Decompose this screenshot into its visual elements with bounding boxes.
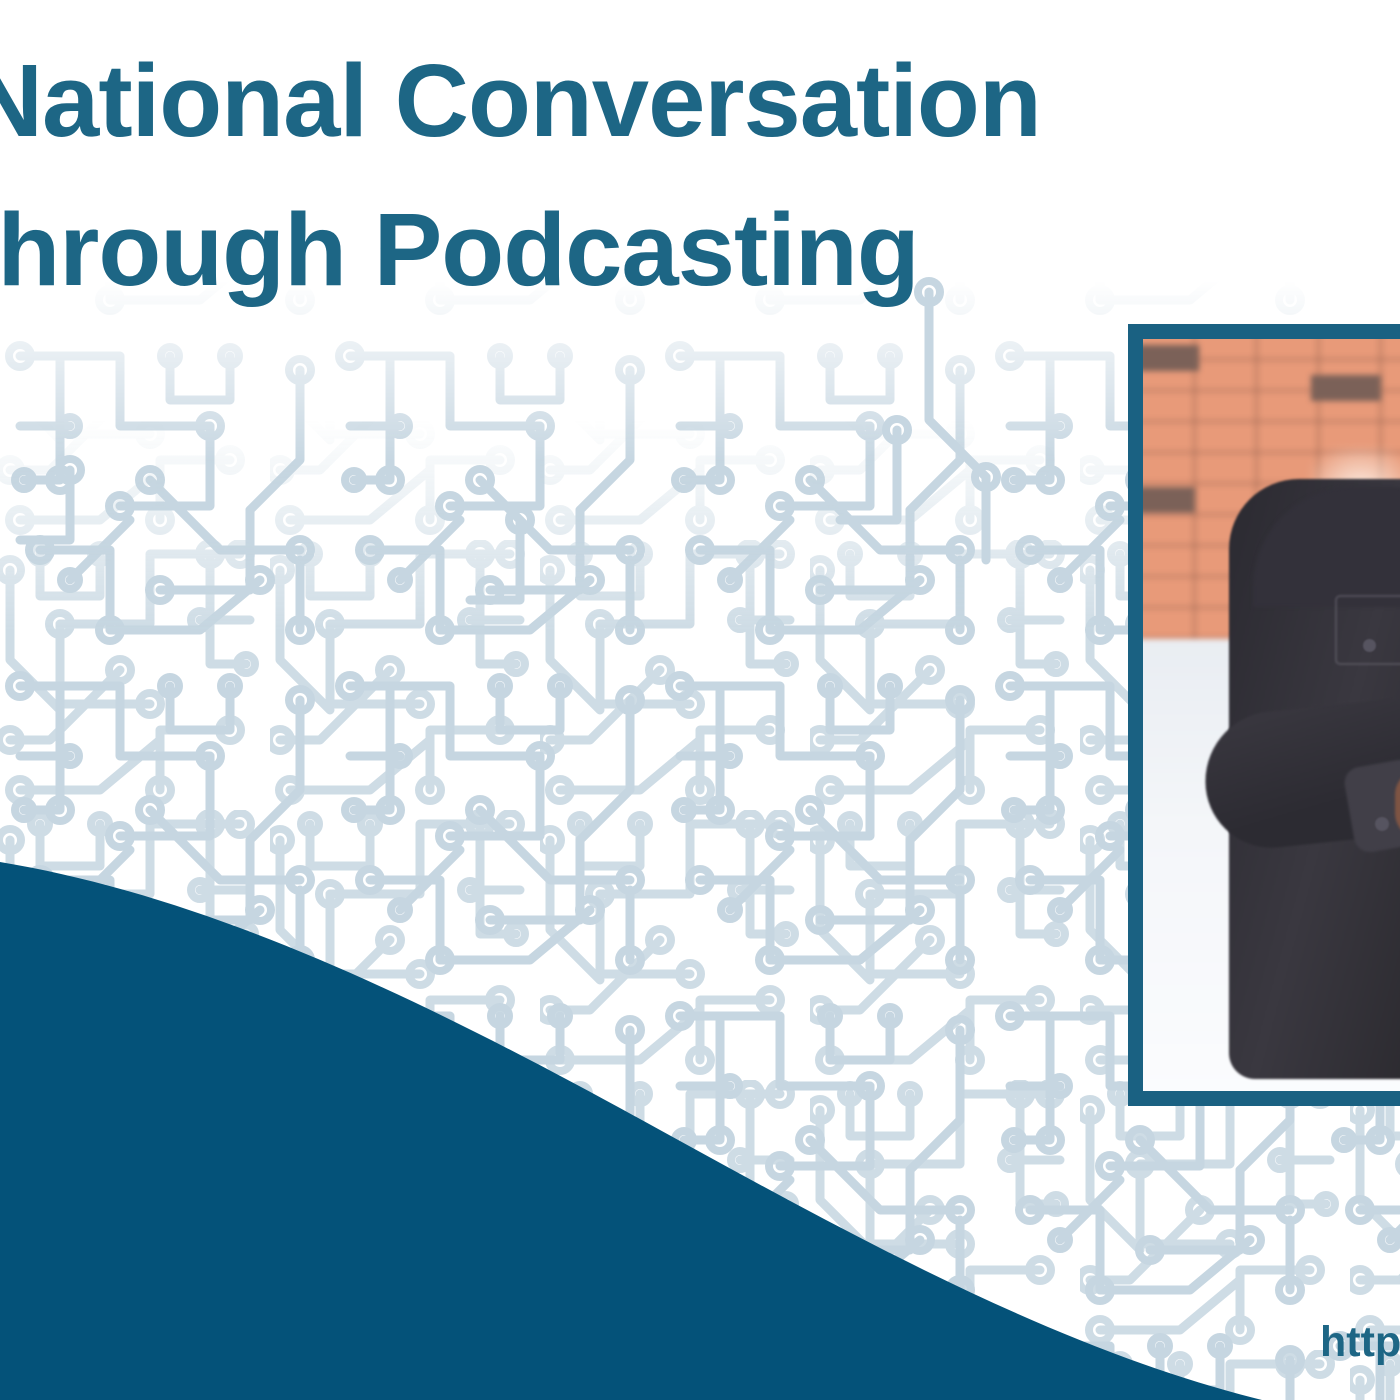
jacket-button xyxy=(1363,639,1376,652)
jacket-pocket xyxy=(1335,595,1400,665)
brick-accent xyxy=(1143,487,1195,513)
brick-accent xyxy=(1143,345,1199,371)
site-url[interactable]: http xyxy=(1320,1318,1400,1367)
slide-canvas: g the National Conversation oney through… xyxy=(0,0,1400,1400)
page-title-line-2: oney through Podcasting xyxy=(0,175,1400,324)
page-title-line-1: g the National Conversation xyxy=(0,26,1400,175)
page-title: g the National Conversation oney through… xyxy=(0,26,1400,325)
speaker-portrait-frame xyxy=(1128,324,1400,1106)
speaker-portrait-image xyxy=(1143,339,1400,1091)
jacket-button xyxy=(1375,817,1389,831)
brick-accent xyxy=(1311,375,1381,401)
